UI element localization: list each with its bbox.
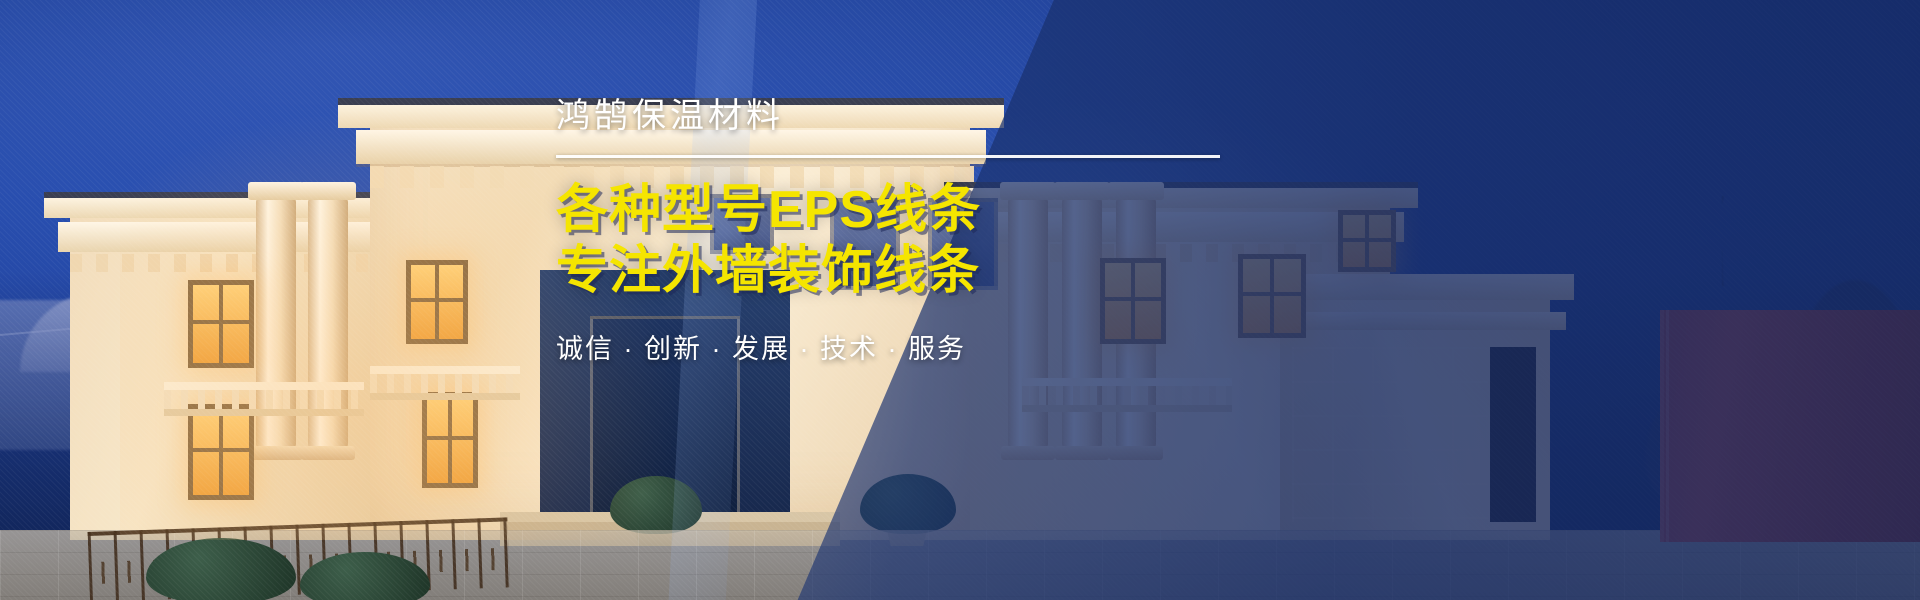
lit-window [406, 260, 468, 344]
balustrade [1022, 378, 1232, 412]
villa-left-dentils [70, 254, 400, 272]
lit-window [422, 392, 478, 488]
promo-banner: 鸿鹄保温材料 各种型号EPS线条 专注外墙装饰线条 诚信 · 创新 · 发展 ·… [0, 0, 1920, 600]
garage-opening [1490, 347, 1536, 522]
divider-rule [556, 155, 1220, 158]
balustrade [164, 382, 364, 416]
lit-window [1338, 210, 1396, 272]
villa-left-cornice [58, 222, 414, 252]
headline-group: 各种型号EPS线条 专注外墙装饰线条 [556, 180, 1276, 302]
garage-door [1292, 347, 1488, 522]
villa-left-roof [44, 192, 426, 218]
lit-window [188, 404, 254, 500]
headline-line-1: 各种型号EPS线条 [556, 180, 1276, 241]
lit-window [188, 280, 254, 368]
brand-name: 鸿鹄保温材料 [556, 96, 1276, 137]
balustrade [370, 366, 520, 400]
red-container-wall [1660, 310, 1920, 542]
bare-branch [1722, 196, 1892, 286]
tagline: 诚信 · 创新 · 发展 · 技术 · 服务 [556, 327, 1276, 366]
headline-line-2: 专注外墙装饰线条 [556, 241, 1276, 302]
banner-text-block: 鸿鹄保温材料 各种型号EPS线条 专注外墙装饰线条 诚信 · 创新 · 发展 ·… [556, 96, 1276, 366]
garage-cornice-lower [1266, 312, 1566, 330]
